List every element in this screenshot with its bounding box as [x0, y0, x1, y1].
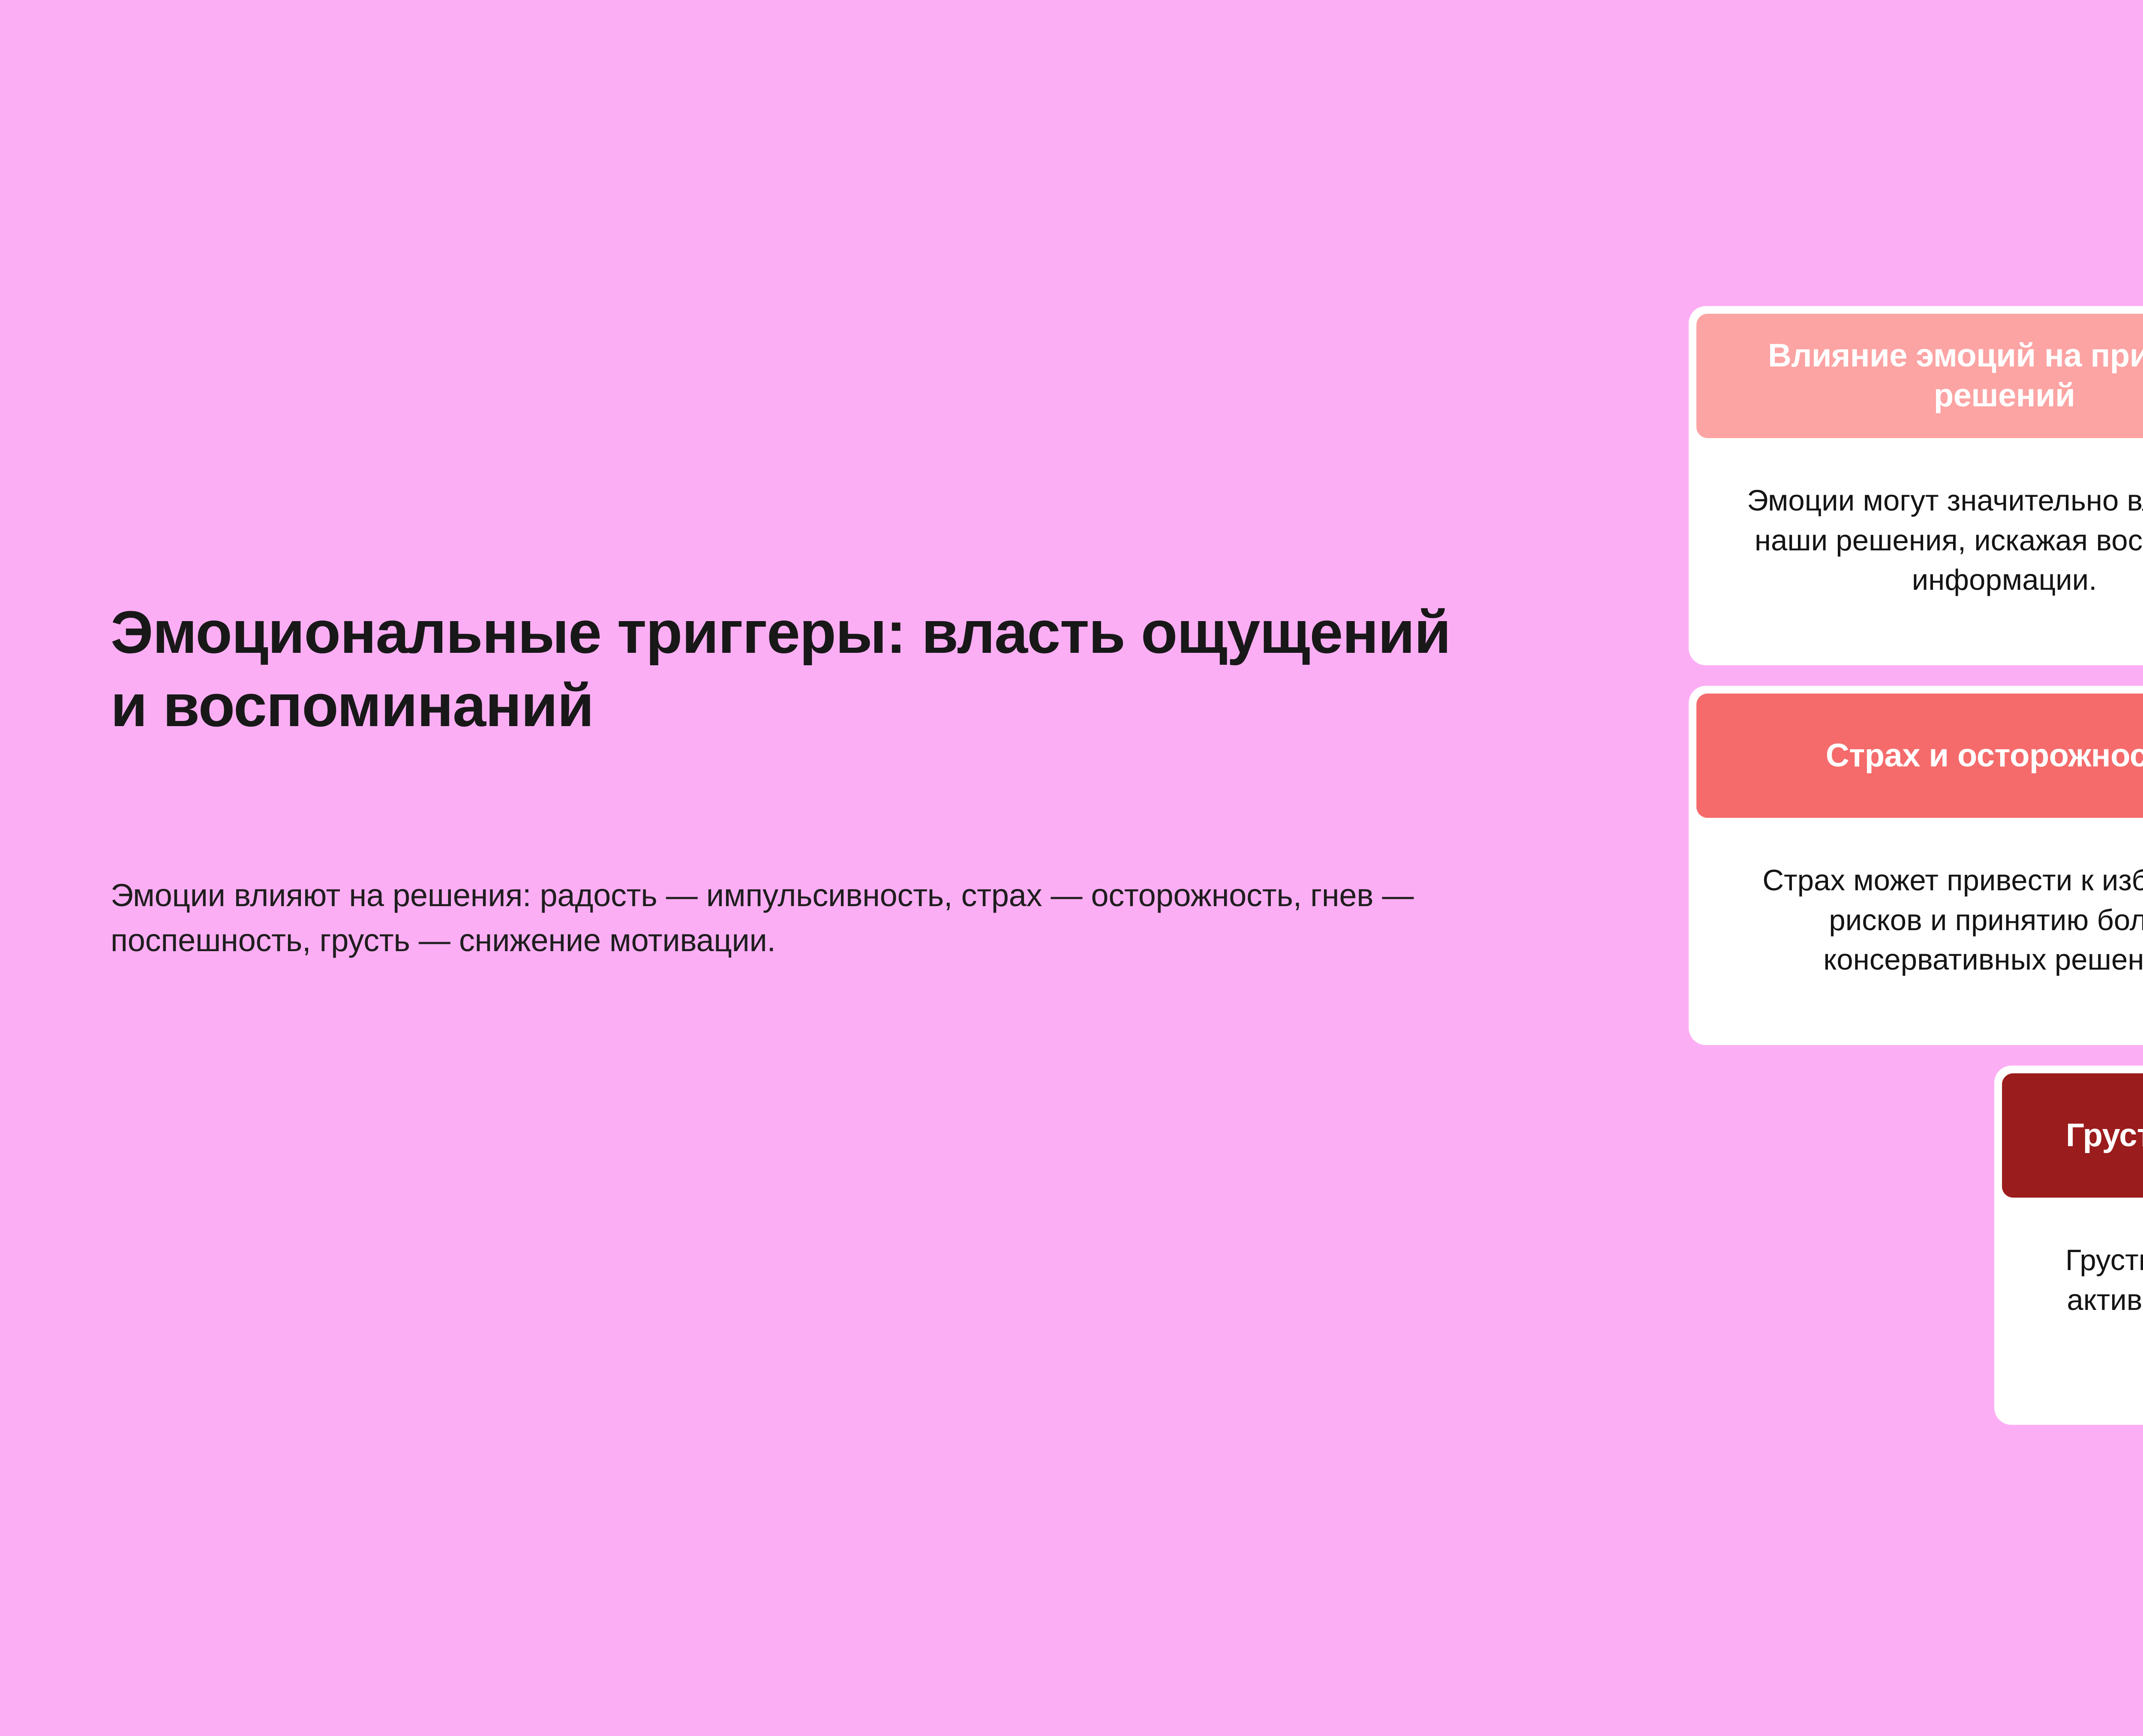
page-subtitle: Эмоции влияют на решения: радость — импу…: [111, 742, 1448, 963]
card-description: Эмоции могут значительно влиять на наши …: [1730, 481, 2143, 600]
card-body: Грусть может снижать мотивацию и активно…: [2002, 1198, 2143, 1415]
intro-text-column: Эмоциональные триггеры: власть ощущений …: [111, 596, 1521, 963]
card-title: Влияние эмоций на принятие решений: [1708, 336, 2143, 415]
emotion-card-grid: Влияние эмоций на принятие решений Эмоци…: [1689, 306, 2143, 1425]
card-header-band: Влияние эмоций на принятие решений: [1696, 314, 2143, 438]
card-description: Страх может привести к избеганию рисков …: [1730, 861, 2143, 979]
card-title: Страх и осторожность: [1826, 736, 2143, 776]
card-header-band: Грусть и снижение активности: [2002, 1073, 2143, 1198]
emotion-card-fear[interactable]: Страх и осторожность Страх может привест…: [1689, 686, 2143, 1045]
emotion-card-influence[interactable]: Влияние эмоций на принятие решений Эмоци…: [1689, 306, 2143, 665]
card-description: Грусть может снижать мотивацию и активно…: [2035, 1240, 2143, 1359]
card-body: Эмоции могут значительно влиять на наши …: [1696, 438, 2143, 656]
card-title: Грусть и снижение активности: [2066, 1116, 2143, 1156]
emotion-card-sadness[interactable]: Грусть и снижение активности Грусть може…: [1994, 1066, 2143, 1425]
page-title: Эмоциональные триггеры: власть ощущений …: [111, 596, 1499, 742]
card-body: Страх может привести к избеганию рисков …: [1696, 818, 2143, 1036]
card-header-band: Страх и осторожность: [1696, 694, 2143, 818]
